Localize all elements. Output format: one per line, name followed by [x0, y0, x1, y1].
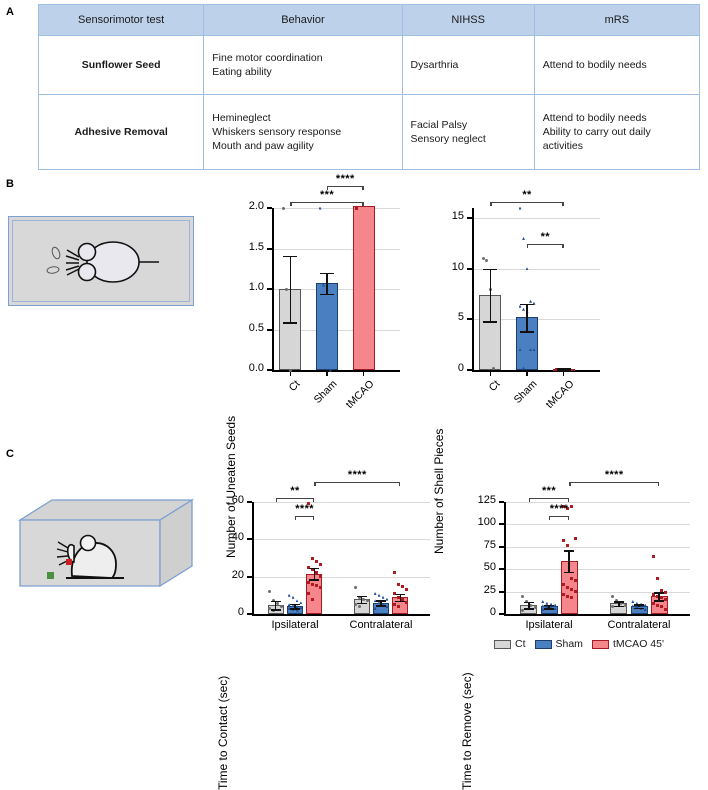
y-tick [467, 318, 472, 320]
data-point [315, 584, 318, 587]
error-cap [271, 601, 281, 603]
x-tick-label: Sham [303, 378, 340, 415]
x-tick-label: tMCAO [539, 378, 576, 415]
nihss-line: Sensory neglect [411, 132, 526, 146]
chart-number-of-shell-pieces: Number of Shell Pieces 051015CtShamtMCAO… [420, 186, 600, 416]
gridline [504, 524, 690, 525]
data-point [319, 586, 322, 589]
error-cap [524, 602, 534, 604]
data-point [529, 300, 532, 303]
x-tick [290, 372, 292, 376]
significance-tick [276, 498, 277, 502]
x-tick-label: Ct [266, 378, 303, 415]
y-tick-label: 0.5 [222, 322, 264, 334]
chart-time-to-contact: Time to Contact (sec) 0204060Ipsilateral… [206, 472, 438, 652]
data-point [374, 592, 377, 595]
data-point [521, 595, 524, 598]
significance-bar [295, 516, 314, 517]
error-cap [320, 273, 334, 275]
data-point [664, 608, 667, 611]
significance-tick [313, 498, 314, 502]
error-cap [357, 603, 367, 605]
error-cap [634, 604, 644, 606]
x-group-label: Contralateral [333, 619, 429, 631]
x-axis [252, 614, 430, 616]
data-point [292, 596, 295, 599]
legend-swatch-sham [535, 640, 552, 649]
data-point [570, 588, 573, 591]
nihss-line: Facial Palsy [411, 118, 526, 132]
significance-tick [568, 516, 569, 520]
error-cap [395, 594, 405, 596]
y-axis-label: Time to Remove (sec) [460, 672, 474, 790]
y-tick-label: 0 [208, 606, 244, 618]
bar-tmcao [353, 206, 375, 370]
y-axis [504, 502, 506, 614]
error-cap [564, 550, 574, 552]
y-tick-label: 40 [208, 531, 244, 543]
y-tick-label: 0.0 [222, 362, 264, 374]
data-point [315, 571, 318, 574]
data-point [566, 595, 569, 598]
y-tick-label: 100 [460, 516, 496, 528]
y-axis [472, 208, 474, 370]
y-tick [247, 613, 252, 615]
error-cap [376, 605, 386, 607]
significance-stars: **** [279, 503, 331, 515]
significance-stars: **** [321, 173, 369, 185]
data-point [566, 586, 569, 589]
behavior-line: Mouth and paw agility [212, 139, 393, 153]
error-cap [520, 304, 534, 306]
data-point [397, 605, 400, 608]
y-tick [499, 568, 504, 570]
data-point [319, 563, 322, 566]
y-tick [467, 369, 472, 371]
chart-legend: Ct Sham tMCAO 45' [494, 638, 664, 650]
y-tick-label: 125 [460, 494, 496, 506]
error-cap [290, 604, 300, 606]
data-point [319, 575, 322, 578]
legend-item-ct: Ct [494, 638, 526, 650]
significance-bar [569, 482, 659, 483]
data-point [656, 577, 659, 580]
error-cap [614, 606, 624, 608]
gridline [504, 547, 690, 548]
plot-area: 0255075100125IpsilateralContralateral***… [504, 502, 684, 614]
significance-tick [327, 186, 328, 190]
error-cap [483, 321, 497, 323]
data-point [660, 605, 663, 608]
significance-tick [399, 482, 400, 486]
data-point [562, 593, 565, 596]
y-tick [499, 501, 504, 503]
data-point [307, 581, 310, 584]
significance-tick [569, 482, 570, 486]
gridline [504, 569, 690, 570]
table-row: Adhesive Removal Hemineglect Whiskers se… [39, 95, 700, 170]
mrs-line: activities [543, 139, 691, 153]
table-cell-mrs: Attend to bodily needs Ability to carry … [534, 95, 699, 170]
data-point [624, 604, 627, 607]
y-tick [267, 207, 272, 209]
significance-tick [568, 498, 569, 502]
sensorimotor-test-table: Sensorimotor test Behavior NIHSS mRS Sun… [38, 4, 700, 170]
panel-label-b: B [6, 178, 14, 190]
gridline [252, 577, 430, 578]
y-tick [499, 591, 504, 593]
data-point [307, 592, 310, 595]
significance-bar [327, 186, 364, 187]
error-cap [320, 294, 334, 296]
error-bar [490, 269, 492, 322]
significance-tick [562, 244, 563, 248]
significance-tick [549, 516, 550, 520]
panel-label-c: C [6, 448, 14, 460]
y-axis [252, 502, 254, 614]
data-point [652, 602, 655, 605]
data-point [566, 544, 569, 547]
table-cell-test-name: Adhesive Removal [39, 95, 204, 170]
sunflower-seed-test-illustration [8, 216, 194, 306]
x-group-label: Contralateral [591, 619, 687, 631]
gridline [272, 208, 400, 209]
y-tick [467, 217, 472, 219]
x-group-label: Ipsilateral [247, 619, 343, 631]
mouse-topdown-icon [9, 217, 195, 307]
significance-stars: *** [523, 485, 575, 497]
legend-item-tmcao: tMCAO 45' [592, 638, 664, 650]
error-cap [283, 256, 297, 258]
data-point [656, 604, 659, 607]
x-tick-label: Ct [466, 378, 503, 415]
error-cap [290, 608, 300, 610]
data-point [288, 594, 291, 597]
significance-stars: *** [303, 189, 351, 201]
x-tick [526, 372, 528, 376]
y-tick [247, 538, 252, 540]
data-point [570, 577, 573, 580]
significance-stars: ** [503, 189, 551, 201]
data-point [296, 599, 299, 602]
legend-label-ct: Ct [515, 638, 526, 650]
data-point [664, 591, 667, 594]
behavior-line: Eating ability [212, 65, 393, 79]
significance-tick [362, 202, 363, 206]
significance-bar [529, 498, 569, 499]
x-tick-label: Sham [503, 378, 540, 415]
gridline [504, 502, 690, 503]
data-point [285, 288, 288, 291]
table-header-row: Sensorimotor test Behavior NIHSS mRS [39, 5, 700, 36]
data-point [574, 537, 577, 540]
adhesive-removal-test-illustration [6, 486, 202, 596]
error-bar [314, 568, 316, 580]
data-point [574, 579, 577, 582]
table-header-nihss: NIHSS [402, 5, 534, 36]
y-tick-label: 0 [460, 606, 496, 618]
y-tick [499, 613, 504, 615]
error-cap [357, 596, 367, 598]
data-point [554, 604, 557, 607]
table-header-sensorimotor-test: Sensorimotor test [39, 5, 204, 36]
x-tick [563, 372, 565, 376]
significance-tick [658, 482, 659, 486]
data-point [522, 308, 525, 311]
table-cell-nihss: Dysarthria [402, 36, 534, 95]
y-tick [467, 268, 472, 270]
x-group-label: Ipsilateral [501, 619, 597, 631]
y-tick [499, 523, 504, 525]
legend-swatch-ct [494, 640, 511, 649]
error-cap [483, 269, 497, 271]
y-tick-label: 50 [460, 561, 496, 573]
plot-area: 0.00.51.01.52.0CtShamtMCAO******* [272, 208, 382, 370]
data-point [382, 596, 385, 599]
error-cap [544, 605, 554, 607]
error-bar [326, 273, 328, 294]
x-tick [490, 372, 492, 376]
data-point [268, 590, 271, 593]
significance-tick [290, 202, 291, 206]
table-cell-behavior: Hemineglect Whiskers sensory response Mo… [204, 95, 402, 170]
data-point [362, 598, 365, 601]
table-cell-behavior: Fine motor coordination Eating ability [204, 36, 402, 95]
data-point [315, 560, 318, 563]
data-point [311, 598, 314, 601]
significance-bar [290, 202, 363, 203]
mrs-line: Attend to bodily needs [543, 58, 691, 72]
data-point [631, 600, 634, 603]
gridline [472, 218, 600, 219]
y-tick [247, 576, 252, 578]
significance-tick [295, 516, 296, 520]
y-tick-label: 15 [422, 210, 464, 222]
error-cap [524, 608, 534, 610]
y-tick-label: 10 [422, 261, 464, 273]
table-row: Sunflower Seed Fine motor coordination E… [39, 36, 700, 95]
table-header-mrs: mRS [534, 5, 699, 36]
legend-item-sham: Sham [535, 638, 583, 650]
significance-tick [529, 498, 530, 502]
y-tick [267, 369, 272, 371]
y-tick-label: 5 [422, 311, 464, 323]
significance-tick [562, 202, 563, 206]
significance-bar [527, 244, 564, 245]
error-cap [283, 322, 297, 324]
error-bar [526, 304, 528, 331]
error-bar [290, 256, 292, 322]
x-axis [472, 370, 600, 372]
data-point [664, 598, 667, 601]
y-tick-label: 2.0 [222, 200, 264, 212]
y-tick-label: 25 [460, 584, 496, 596]
data-point [652, 555, 655, 558]
error-cap [544, 608, 554, 610]
plot-area: 0204060IpsilateralContralateral*********… [252, 502, 424, 614]
significance-bar [490, 202, 563, 203]
significance-stars: **** [533, 503, 585, 515]
data-point [282, 207, 285, 210]
box-3d-with-mouse-icon [6, 486, 202, 596]
data-point [354, 586, 357, 589]
y-tick-label: 0 [422, 362, 464, 374]
data-point [574, 590, 577, 593]
chart-time-to-remove: Time to Remove (sec) 0255075100125Ipsila… [452, 472, 702, 652]
y-axis [272, 208, 274, 370]
x-tick [363, 372, 365, 376]
data-point [397, 583, 400, 586]
data-point [401, 585, 404, 588]
data-point [405, 588, 408, 591]
behavior-line: Fine motor coordination [212, 51, 393, 65]
data-point [562, 583, 565, 586]
table-header-behavior: Behavior [204, 5, 402, 36]
table-cell-test-name: Sunflower Seed [39, 36, 204, 95]
y-tick-label: 75 [460, 539, 496, 551]
panel-label-a: A [6, 6, 14, 18]
error-cap [654, 600, 664, 602]
significance-stars: **** [331, 469, 383, 481]
legend-swatch-tmcao [592, 640, 609, 649]
error-cap [654, 592, 664, 594]
data-point [393, 571, 396, 574]
table-cell-nihss: Facial Palsy Sensory neglect [402, 95, 534, 170]
x-tick [326, 372, 328, 376]
significance-tick [314, 482, 315, 486]
data-point [378, 594, 381, 597]
y-tick-label: 1.0 [222, 281, 264, 293]
bar-sham [316, 283, 338, 370]
error-cap [395, 601, 405, 603]
y-tick [267, 288, 272, 290]
data-point [541, 600, 544, 603]
y-tick-label: 20 [208, 569, 244, 581]
data-point [519, 207, 522, 210]
y-axis-label: Time to Contact (sec) [216, 676, 230, 790]
x-tick-label: tMCAO [339, 378, 376, 415]
y-tick [267, 248, 272, 250]
error-cap [376, 600, 386, 602]
error-cap [271, 609, 281, 611]
data-point [570, 596, 573, 599]
data-point [562, 539, 565, 542]
plot-area: 051015CtShamtMCAO**** [472, 208, 582, 370]
y-tick-label: 1.5 [222, 241, 264, 253]
x-axis [504, 614, 690, 616]
mrs-line: Ability to carry out daily [543, 125, 691, 139]
behavior-line: Hemineglect [212, 111, 393, 125]
data-point [485, 259, 488, 262]
error-cap [634, 608, 644, 610]
y-tick [247, 501, 252, 503]
significance-tick [490, 202, 491, 206]
significance-stars: ** [521, 231, 569, 243]
significance-tick [313, 516, 314, 520]
significance-bar [549, 516, 569, 517]
significance-stars: ** [269, 485, 321, 497]
table-cell-mrs: Attend to bodily needs [534, 36, 699, 95]
chart-number-of-uneaten-seeds: Number of Uneaten Seeds 0.00.51.01.52.0C… [212, 186, 392, 416]
significance-bar [276, 498, 315, 499]
significance-tick [527, 244, 528, 248]
y-tick-label: 60 [208, 494, 244, 506]
data-point [534, 606, 537, 609]
data-point [611, 595, 614, 598]
error-cap [309, 579, 319, 581]
gridline [272, 249, 400, 250]
y-tick [267, 329, 272, 331]
error-cap [520, 331, 534, 333]
error-cap [564, 572, 574, 574]
significance-bar [314, 482, 400, 483]
error-cap [614, 601, 624, 603]
data-point [355, 207, 358, 210]
gridline [252, 539, 430, 540]
error-bar [568, 550, 570, 572]
data-point [393, 603, 396, 606]
nihss-line: Dysarthria [411, 58, 526, 72]
y-tick [499, 546, 504, 548]
error-cap [309, 568, 319, 570]
mrs-line: Attend to bodily needs [543, 111, 691, 125]
data-point [311, 557, 314, 560]
behavior-line: Whiskers sensory response [212, 125, 393, 139]
legend-label-sham: Sham [556, 638, 583, 650]
significance-tick [362, 186, 363, 190]
legend-label-tmcao: tMCAO 45' [613, 638, 664, 650]
data-point [311, 583, 314, 586]
significance-stars: **** [588, 469, 640, 481]
data-point [660, 596, 663, 599]
